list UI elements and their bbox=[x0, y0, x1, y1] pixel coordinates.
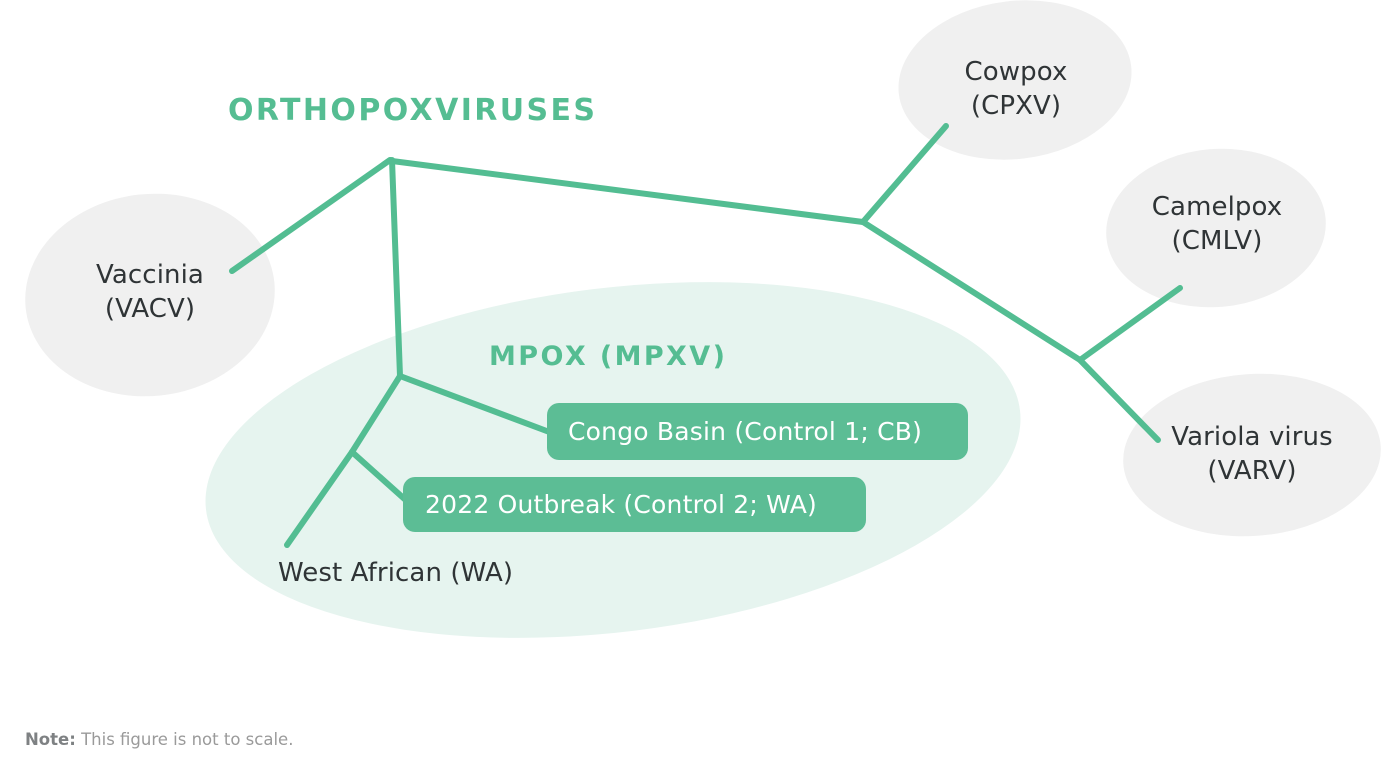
node-abbrev-camelpox: (CMLV) bbox=[1108, 224, 1326, 258]
node-abbrev-cowpox: (CPXV) bbox=[905, 89, 1127, 123]
pill-congo-basin: Congo Basin (Control 1; CB) bbox=[547, 403, 968, 460]
tree-graphic bbox=[0, 0, 1400, 770]
branch-cowpoxnode-to-cowpox bbox=[863, 126, 946, 222]
branch-root-to-cowpox-node bbox=[392, 161, 863, 222]
node-abbrev-variola: (VARV) bbox=[1128, 454, 1376, 488]
node-label-west-african: West African (WA) bbox=[278, 556, 513, 590]
node-name-variola: Variola virus bbox=[1128, 420, 1376, 454]
node-label-variola: Variola virus (VARV) bbox=[1128, 420, 1376, 489]
node-name-cowpox: Cowpox bbox=[905, 55, 1127, 89]
mpox-clade-title: MPOX (MPXV) bbox=[489, 341, 727, 372]
mpox-clade-highlight bbox=[185, 239, 1041, 680]
node-label-camelpox: Camelpox (CMLV) bbox=[1108, 190, 1326, 259]
node-abbrev-vaccinia: (VACV) bbox=[35, 292, 265, 326]
figure-note-text: This figure is not to scale. bbox=[76, 730, 294, 749]
node-name-vaccinia: Vaccinia bbox=[35, 258, 265, 292]
figure-note: Note: This figure is not to scale. bbox=[25, 730, 293, 749]
node-label-cowpox: Cowpox (CPXV) bbox=[905, 55, 1127, 124]
branch-varvcmlv-to-camelpox bbox=[1080, 288, 1180, 360]
node-label-vaccinia: Vaccinia (VACV) bbox=[35, 258, 265, 327]
pill-2022-outbreak: 2022 Outbreak (Control 2; WA) bbox=[403, 477, 866, 532]
phylogenetic-tree-figure: ORTHOPOXVIRUSES MPOX (MPXV) Vaccinia (VA… bbox=[0, 0, 1400, 770]
page-title: ORTHOPOXVIRUSES bbox=[228, 93, 597, 128]
figure-note-label: Note: bbox=[25, 730, 76, 749]
branch-root-to-vaccinia bbox=[232, 160, 390, 271]
node-name-camelpox: Camelpox bbox=[1108, 190, 1326, 224]
